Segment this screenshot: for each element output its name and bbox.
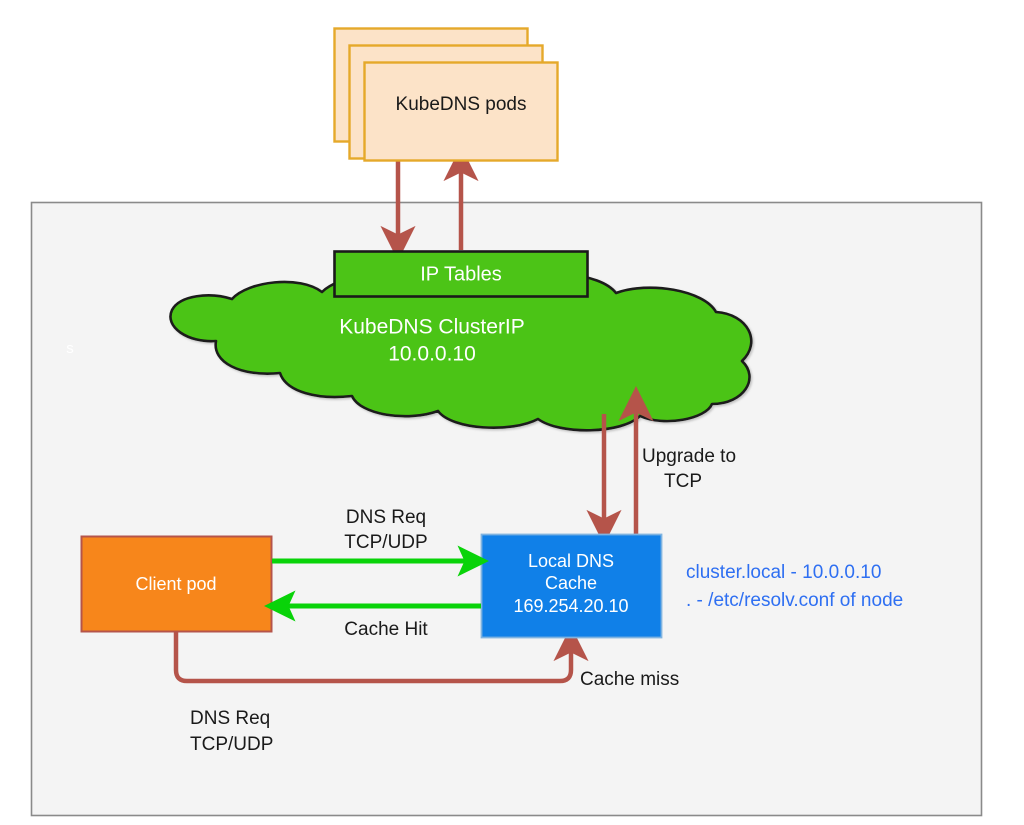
dns-req-bottom-label-line2: TCP/UDP	[190, 734, 273, 755]
client-pod-label: Client pod	[135, 574, 216, 594]
client-pod-node[interactable]: Client pod	[82, 537, 272, 632]
kubedns-clusterip-label-line2: 10.0.0.10	[388, 343, 476, 366]
kubedns-architecture-diagram: s KubeDNS pods KubeDNS ClusterIP 10.0.0.…	[0, 0, 1024, 825]
cache-miss-label: Cache miss	[580, 669, 679, 690]
kubedns-pods-label: KubeDNS pods	[396, 94, 527, 115]
ip-tables-node[interactable]: IP Tables	[335, 252, 588, 297]
upgrade-to-tcp-label-line1: Upgrade to	[642, 446, 736, 467]
cache-hit-label: Cache Hit	[344, 619, 428, 640]
dns-req-top-label-line1: DNS Req	[346, 507, 426, 528]
resolv-note-line2: . - /etc/resolv.conf of node	[686, 590, 903, 611]
upgrade-to-tcp-label-line2: TCP	[664, 471, 702, 492]
local-dns-cache-label-line3: 169.254.20.10	[513, 596, 628, 616]
local-dns-cache-label-line1: Local DNS	[528, 551, 614, 571]
dns-req-bottom-label-line1: DNS Req	[190, 708, 270, 729]
diagram-canvas: s KubeDNS pods KubeDNS ClusterIP 10.0.0.…	[0, 0, 1024, 825]
ip-tables-label: IP Tables	[420, 263, 502, 285]
local-dns-cache-node[interactable]: Local DNS Cache 169.254.20.10	[482, 535, 662, 638]
dns-req-top-label-line2: TCP/UDP	[344, 532, 427, 553]
watermark-letter: s	[66, 340, 74, 357]
kubedns-clusterip-label-line1: KubeDNS ClusterIP	[339, 316, 525, 339]
resolv-note-line1: cluster.local - 10.0.0.10	[686, 562, 881, 583]
kubedns-pods-node[interactable]: KubeDNS pods	[335, 29, 558, 161]
local-dns-cache-label-line2: Cache	[545, 573, 597, 593]
